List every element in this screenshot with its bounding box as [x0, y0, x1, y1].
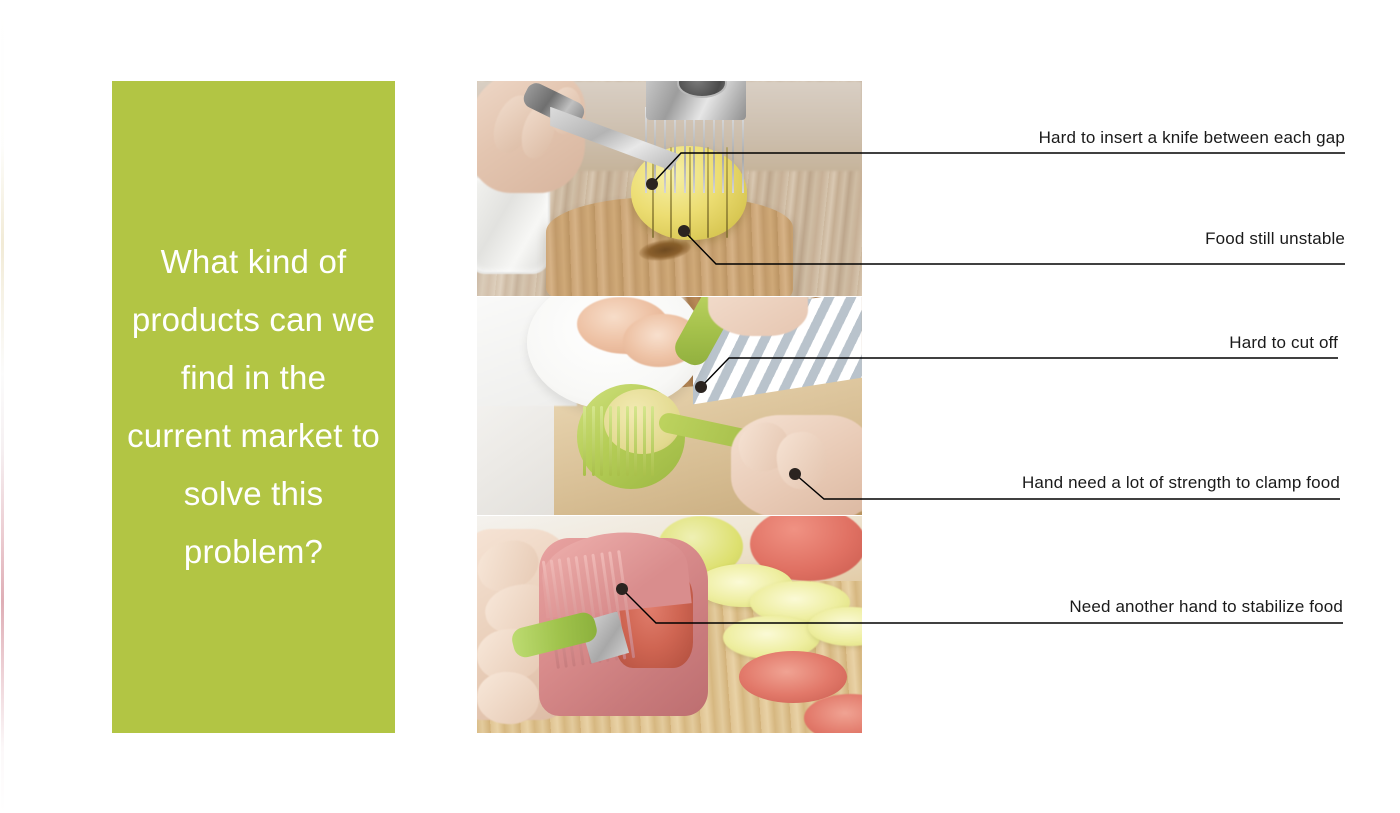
- slide-canvas: What kind of products can we find in the…: [0, 0, 1400, 813]
- question-text: What kind of products can we find in the…: [112, 233, 395, 581]
- annotation-label-hand-need-strength: Hand need a lot of strength to clamp foo…: [1022, 473, 1340, 493]
- left-edge-artifact: [1, 0, 4, 813]
- photo-pink-tomato-slicer: [477, 516, 862, 733]
- slicer-comb: [581, 406, 658, 476]
- photo-green-plastic-slicer: [477, 297, 862, 515]
- annotation-label-hard-to-insert-knife: Hard to insert a knife between each gap: [1039, 128, 1345, 148]
- annotation-label-food-still-unstable: Food still unstable: [1205, 229, 1345, 249]
- photo-metal-onion-holder: [477, 81, 862, 296]
- annotation-label-hard-to-cut-off: Hard to cut off: [1229, 333, 1338, 353]
- photo-strip: [477, 81, 862, 733]
- question-panel: What kind of products can we find in the…: [112, 81, 395, 733]
- tomato-slice: [739, 651, 847, 703]
- annotation-label-need-another-hand: Need another hand to stabilize food: [1069, 597, 1343, 617]
